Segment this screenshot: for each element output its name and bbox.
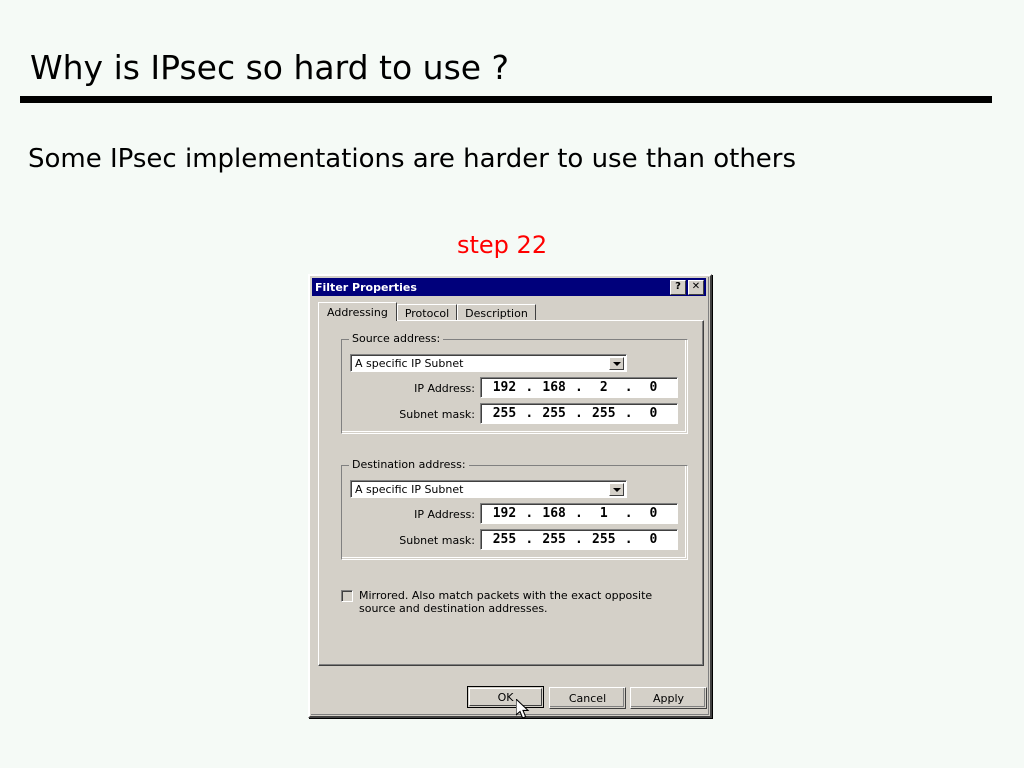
mirrored-checkbox[interactable] xyxy=(341,590,353,602)
octet-1: 255 xyxy=(490,532,518,547)
octet-separator: . xyxy=(525,506,533,521)
slide-body-text: Some IPsec implementations are harder to… xyxy=(28,144,796,174)
octet-2: 255 xyxy=(540,406,568,421)
cancel-button-label: Cancel xyxy=(569,693,606,704)
destination-address-legend: Destination address: xyxy=(349,459,469,471)
octet-3: 255 xyxy=(590,406,618,421)
apply-button[interactable]: Apply xyxy=(630,687,707,709)
ok-button[interactable]: OK xyxy=(467,686,544,708)
addressing-tab-panel: Source address: A specific IP Subnet IP … xyxy=(318,320,704,666)
destination-address-type-value: A specific IP Subnet xyxy=(351,483,463,496)
source-ip-address-field[interactable]: 192 . 168 . 2 . 0 xyxy=(480,377,678,398)
mirrored-checkbox-label: Mirrored. Also match packets with the ex… xyxy=(359,589,669,615)
source-address-group: Source address: A specific IP Subnet IP … xyxy=(341,339,688,434)
tab-protocol[interactable]: Protocol xyxy=(397,304,457,321)
octet-separator: . xyxy=(525,532,533,547)
help-icon[interactable]: ? xyxy=(670,280,686,295)
octet-separator: . xyxy=(575,406,583,421)
octet-1: 192 xyxy=(490,506,518,521)
octet-3: 255 xyxy=(590,532,618,547)
source-ip-address-label: IP Address: xyxy=(402,382,475,395)
title-divider xyxy=(20,96,992,103)
close-icon[interactable]: ✕ xyxy=(688,280,704,295)
dialog-titlebar[interactable]: Filter Properties ? ✕ xyxy=(312,278,706,296)
octet-4: 0 xyxy=(639,506,667,521)
filter-properties-dialog: Filter Properties ? ✕ Addressing Protoco… xyxy=(308,274,712,718)
destination-ip-address-label: IP Address: xyxy=(402,508,475,521)
step-label: step 22 xyxy=(457,231,547,259)
source-subnet-mask-field[interactable]: 255 . 255 . 255 . 0 xyxy=(480,403,678,424)
destination-subnet-mask-field[interactable]: 255 . 255 . 255 . 0 xyxy=(480,529,678,550)
source-subnet-mask-label: Subnet mask: xyxy=(392,408,475,421)
octet-separator: . xyxy=(625,532,633,547)
octet-separator: . xyxy=(525,406,533,421)
source-address-legend: Source address: xyxy=(349,333,443,345)
cancel-button[interactable]: Cancel xyxy=(549,687,626,709)
octet-separator: . xyxy=(625,406,633,421)
mirrored-checkbox-row[interactable]: Mirrored. Also match packets with the ex… xyxy=(341,589,669,615)
chevron-down-icon[interactable] xyxy=(609,357,624,370)
octet-separator: . xyxy=(575,506,583,521)
octet-3: 2 xyxy=(590,380,618,395)
octet-1: 255 xyxy=(490,406,518,421)
chevron-down-icon[interactable] xyxy=(609,483,624,496)
destination-address-type-combo[interactable]: A specific IP Subnet xyxy=(350,480,627,498)
octet-4: 0 xyxy=(639,380,667,395)
destination-ip-address-field[interactable]: 192 . 168 . 1 . 0 xyxy=(480,503,678,524)
apply-button-label: Apply xyxy=(653,693,684,704)
tab-description[interactable]: Description xyxy=(457,304,536,321)
octet-separator: . xyxy=(525,380,533,395)
octet-4: 0 xyxy=(639,532,667,547)
destination-subnet-mask-label: Subnet mask: xyxy=(392,534,475,547)
octet-2: 168 xyxy=(540,380,568,395)
destination-address-group: Destination address: A specific IP Subne… xyxy=(341,465,688,560)
source-address-type-combo[interactable]: A specific IP Subnet xyxy=(350,354,627,372)
dialog-title: Filter Properties xyxy=(315,281,668,294)
tab-addressing[interactable]: Addressing xyxy=(318,302,397,321)
octet-3: 1 xyxy=(590,506,618,521)
octet-2: 255 xyxy=(540,532,568,547)
octet-4: 0 xyxy=(639,406,667,421)
page-title: Why is IPsec so hard to use ? xyxy=(30,48,509,87)
octet-1: 192 xyxy=(490,380,518,395)
octet-separator: . xyxy=(575,532,583,547)
octet-2: 168 xyxy=(540,506,568,521)
tab-strip: Addressing Protocol Description xyxy=(318,304,704,321)
source-address-type-value: A specific IP Subnet xyxy=(351,357,463,370)
octet-separator: . xyxy=(625,380,633,395)
ok-button-label: OK xyxy=(498,692,514,703)
octet-separator: . xyxy=(625,506,633,521)
octet-separator: . xyxy=(575,380,583,395)
